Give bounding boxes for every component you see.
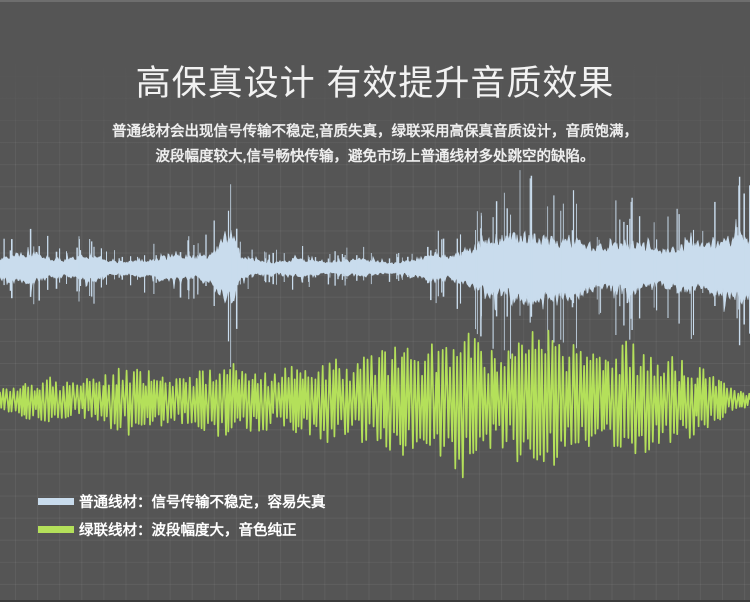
legend-item-ordinary-cable: 普通线材：信号传输不稳定，容易失真	[38, 487, 326, 515]
product-feature-panel: 高保真设计 有效提升音质效果 普通线材会出现信号传输不稳定,音质失真，绿联采用高…	[0, 0, 750, 602]
headline-block: 高保真设计 有效提升音质效果 普通线材会出现信号传输不稳定,音质失真，绿联采用高…	[0, 62, 750, 170]
page-subtitle: 普通线材会出现信号传输不稳定,音质失真，绿联采用高保真音质设计，音质饱满， 波段…	[0, 120, 750, 170]
waveform-path-ordinary	[0, 219, 750, 312]
top-divider	[0, 0, 750, 2]
legend-label-ordinary-cable: 普通线材：信号传输不稳定，容易失真	[79, 491, 326, 512]
legend-swatch-ugreen-cable	[38, 526, 74, 533]
legend-label-ugreen-cable: 绿联线材：波段幅度大，音色纯正	[79, 519, 297, 540]
subtitle-line-2: 波段幅度较大,信号畅快传输，避免市场上普通线材多处跳空的缺陷。	[0, 145, 750, 170]
chart-legend: 普通线材：信号传输不稳定，容易失真 绿联线材：波段幅度大，音色纯正	[38, 487, 326, 543]
legend-item-ugreen-cable: 绿联线材：波段幅度大，音色纯正	[38, 515, 326, 543]
page-title: 高保真设计 有效提升音质效果	[0, 62, 750, 106]
subtitle-line-1: 普通线材会出现信号传输不稳定,音质失真，绿联采用高保真音质设计，音质饱满，	[0, 120, 750, 145]
waveform-ugreen-cable	[0, 331, 750, 478]
waveform-ordinary-cable	[0, 170, 750, 367]
legend-swatch-ordinary-cable	[38, 498, 74, 505]
waveform-path-ugreen	[0, 331, 750, 478]
